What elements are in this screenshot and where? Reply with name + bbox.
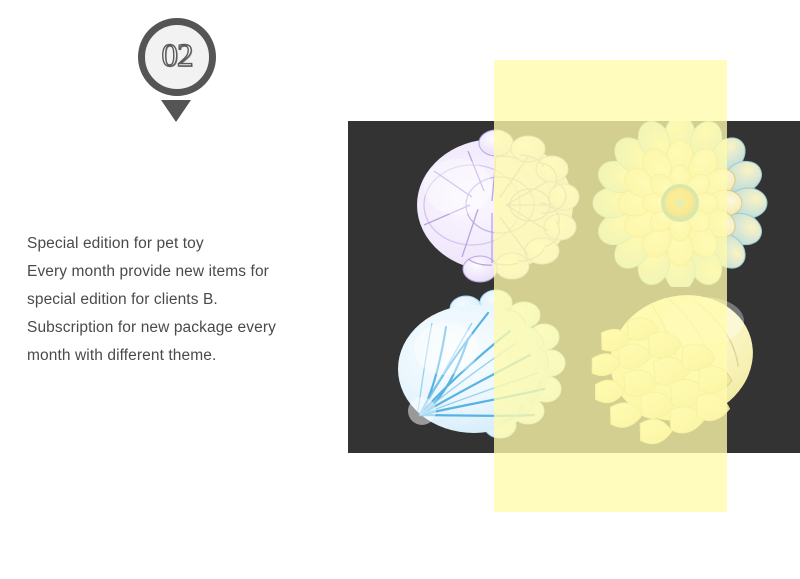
body-copy-line: Subscription for new package every — [27, 314, 327, 342]
pale-yellow-artichoke-toy — [584, 283, 774, 449]
cream-teal-dahlia-toy — [588, 121, 778, 287]
step-badge: 02 — [136, 16, 216, 122]
media-panel — [348, 121, 800, 453]
body-copy-line: special edition for clients B. — [27, 286, 327, 314]
step-badge-number: 02 — [162, 40, 193, 75]
blue-striped-ball-toy — [388, 283, 578, 449]
slide-canvas: 02 Special edition for pet toy Every mon… — [0, 0, 800, 579]
body-copy-line: month with different theme. — [27, 342, 327, 370]
body-copy: Special edition for pet toy Every month … — [27, 230, 327, 370]
triangle-down-icon — [161, 100, 191, 122]
step-badge-circle: 02 — [138, 18, 216, 96]
product-image-grid — [348, 121, 800, 453]
lavender-dahlia-toy — [400, 121, 590, 287]
body-copy-line: Special edition for pet toy — [27, 230, 327, 258]
body-copy-line: Every month provide new items for — [27, 258, 327, 286]
